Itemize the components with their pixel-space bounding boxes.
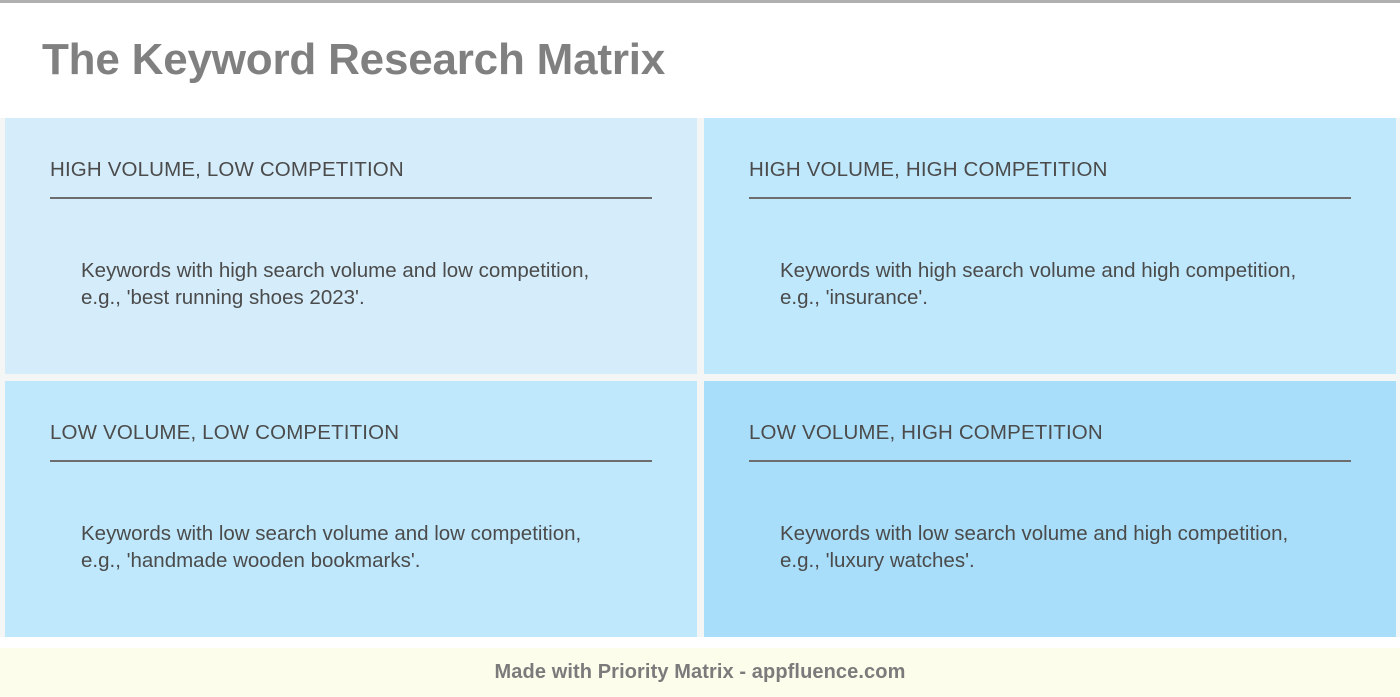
footer-attribution[interactable]: Made with Priority Matrix - appfluence.c… xyxy=(495,661,906,684)
page-header: The Keyword Research Matrix xyxy=(0,3,1400,118)
quadrant-title: LOW VOLUME, HIGH COMPETITION xyxy=(749,421,1351,462)
quadrant-body-text: Keywords with low search volume and high… xyxy=(749,520,1310,574)
quadrant-body-text: Keywords with high search volume and low… xyxy=(50,257,611,311)
quadrant-high-volume-high-competition[interactable]: HIGH VOLUME, HIGH COMPETITION Keywords w… xyxy=(704,118,1396,374)
quadrant-high-volume-low-competition[interactable]: HIGH VOLUME, LOW COMPETITION Keywords wi… xyxy=(5,118,697,374)
quadrant-low-volume-high-competition[interactable]: LOW VOLUME, HIGH COMPETITION Keywords wi… xyxy=(704,381,1396,637)
quadrant-low-volume-low-competition[interactable]: LOW VOLUME, LOW COMPETITION Keywords wit… xyxy=(5,381,697,637)
quadrant-body-text: Keywords with low search volume and low … xyxy=(50,520,611,574)
page-footer: Made with Priority Matrix - appfluence.c… xyxy=(0,648,1400,697)
priority-matrix-page: The Keyword Research Matrix HIGH VOLUME,… xyxy=(0,0,1400,697)
page-title: The Keyword Research Matrix xyxy=(42,37,665,83)
quadrant-title: LOW VOLUME, LOW COMPETITION xyxy=(50,421,652,462)
quadrant-title: HIGH VOLUME, HIGH COMPETITION xyxy=(749,158,1351,199)
quadrant-body-text: Keywords with high search volume and hig… xyxy=(749,257,1310,311)
footer-spacer xyxy=(0,637,1400,648)
quadrant-title: HIGH VOLUME, LOW COMPETITION xyxy=(50,158,652,199)
matrix-grid: HIGH VOLUME, LOW COMPETITION Keywords wi… xyxy=(0,118,1400,637)
